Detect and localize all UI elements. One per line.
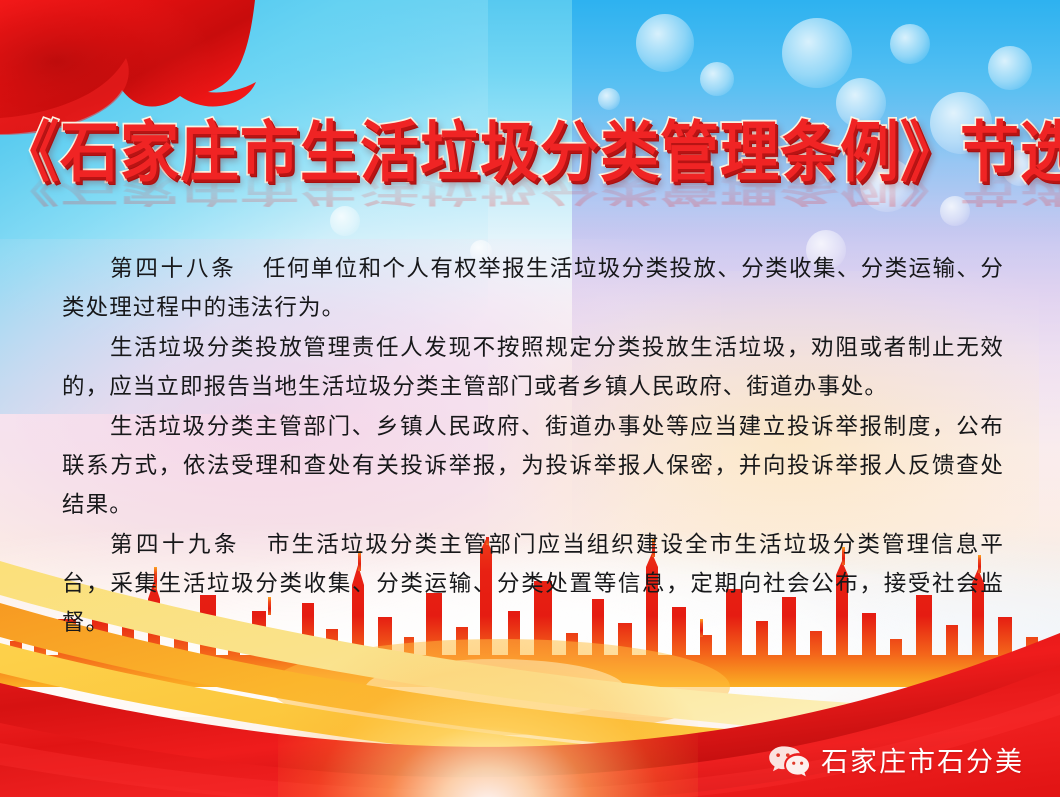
paragraph-2: 生活垃圾分类投放管理责任人发现不按照规定分类投放生活垃圾，劝阻或者制止无效的，应… [62,329,1004,407]
poster-canvas: 《石家庄市生活垃圾分类管理条例》节选 《石家庄市生活垃圾分类管理条例》节选 第四… [0,0,1060,797]
article-number-48: 第四十八条 [110,256,237,282]
footer-brand[interactable]: 石家庄市石分美 [768,745,1024,779]
paragraph-article-48: 第四十八条任何单位和个人有权举报生活垃圾分类投放、分类收集、分类运输、分类处理过… [62,250,1004,328]
regulation-body: 第四十八条任何单位和个人有权举报生活垃圾分类投放、分类收集、分类运输、分类处理过… [62,250,1004,644]
poster-title-block: 《石家庄市生活垃圾分类管理条例》节选 《石家庄市生活垃圾分类管理条例》节选 [0,118,1060,269]
paragraph-3: 生活垃圾分类主管部门、乡镇人民政府、街道办事处等应当建立投诉举报制度，公布联系方… [62,408,1004,525]
page-title-reflection: 《石家庄市生活垃圾分类管理条例》节选 [0,172,1060,206]
paragraph-article-49: 第四十九条市生活垃圾分类主管部门应当组织建设全市生活垃圾分类管理信息平台，采集生… [62,526,1004,643]
brand-name-label: 石家庄市石分美 [821,749,1024,776]
article-number-49: 第四十九条 [110,532,240,558]
paragraph-3-text: 生活垃圾分类主管部门、乡镇人民政府、街道办事处等应当建立投诉举报制度，公布联系方… [62,414,1004,518]
wechat-icon [768,745,810,779]
paragraph-2-text: 生活垃圾分类投放管理责任人发现不按照规定分类投放生活垃圾，劝阻或者制止无效的，应… [62,335,1004,400]
